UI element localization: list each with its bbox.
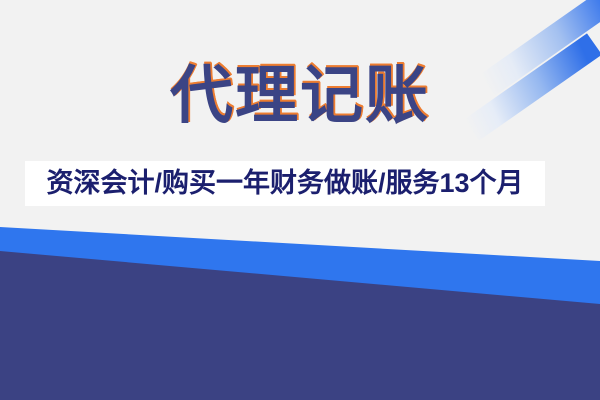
subtitle-band: 资深会计/购买一年财务做账/服务13个月 xyxy=(25,161,545,206)
page-title: 代理记账 xyxy=(0,56,600,136)
banner-text-block: 代理记账 资深会计/购买一年财务做账/服务13个月 xyxy=(0,0,600,400)
subtitle-text: 资深会计/购买一年财务做账/服务13个月 xyxy=(15,161,555,206)
promo-banner: 代理记账 资深会计/购买一年财务做账/服务13个月 xyxy=(0,0,600,400)
